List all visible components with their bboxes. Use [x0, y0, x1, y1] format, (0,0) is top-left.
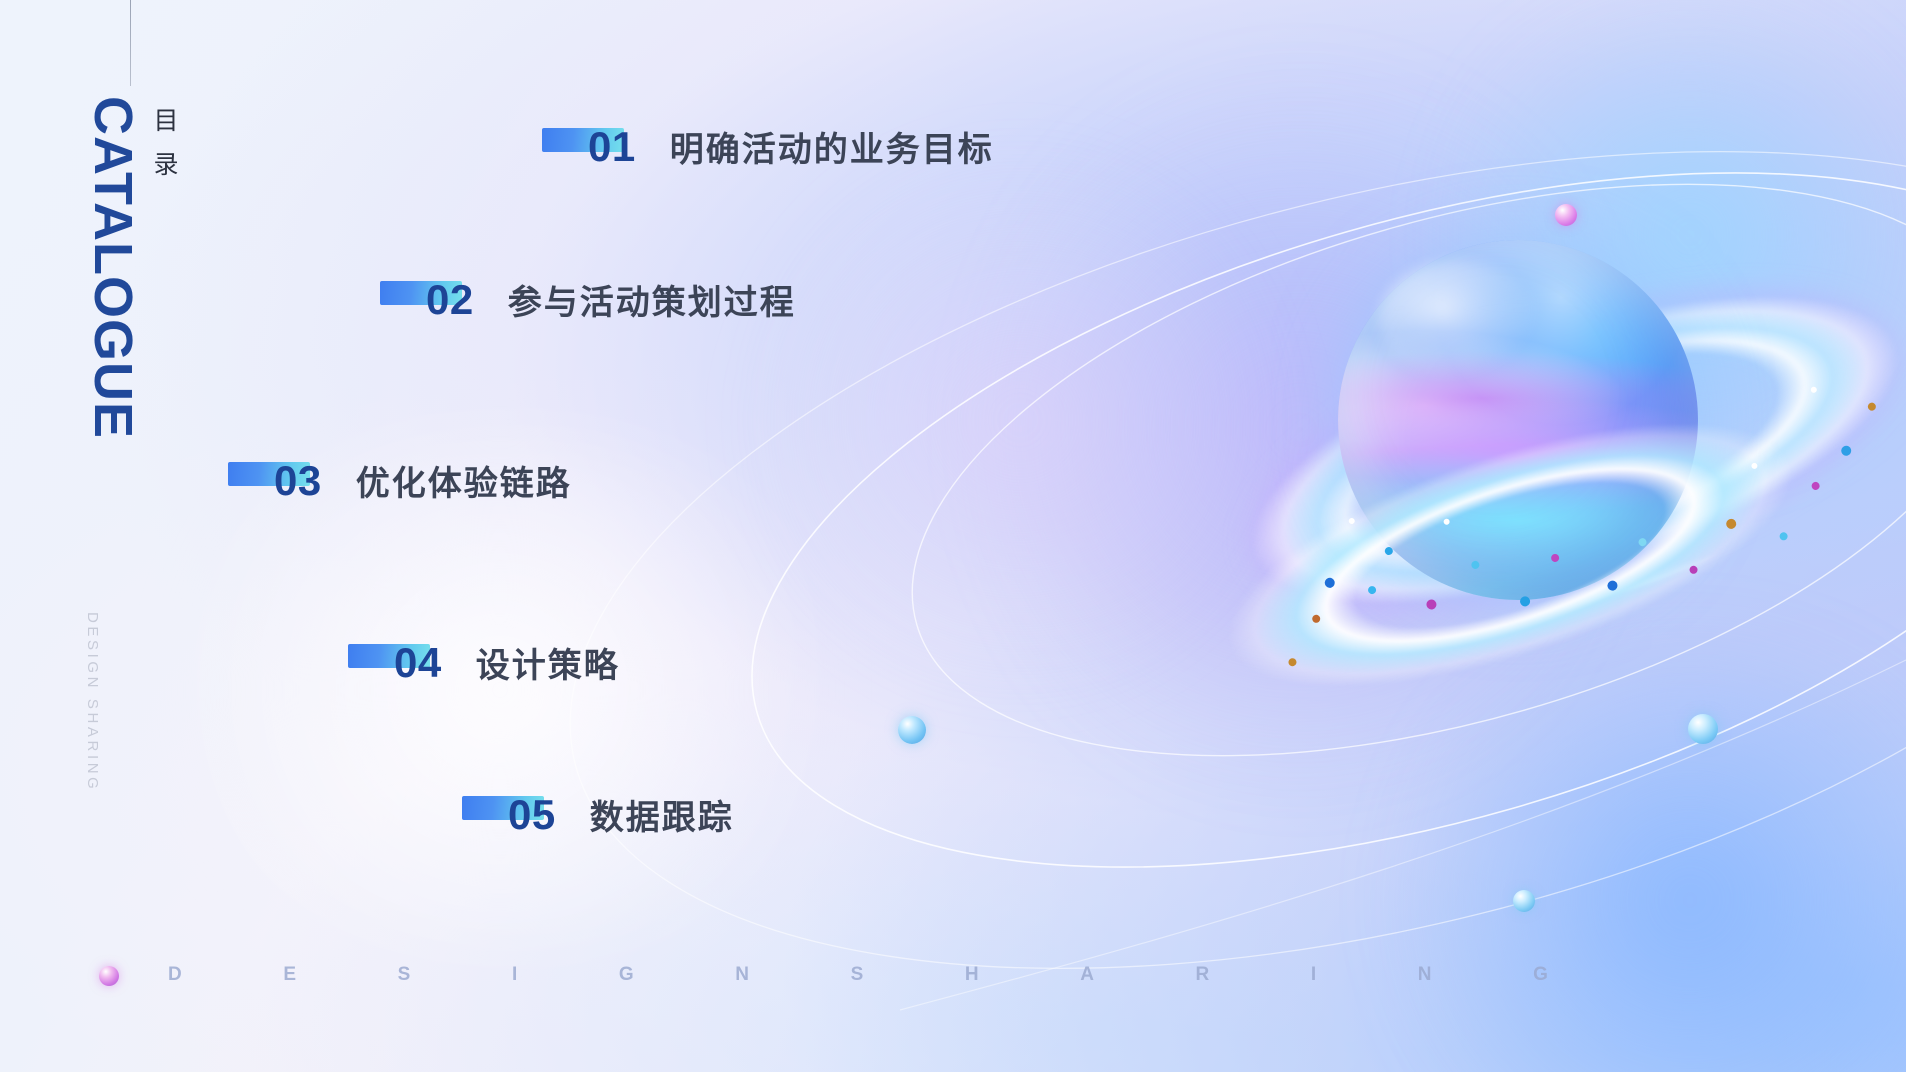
entry-number-wrap-03: 03 [228, 460, 322, 502]
entry-title-05: 数据跟踪 [590, 790, 734, 839]
wordmark-letter: N [735, 964, 749, 986]
background-bloom-cyan [1430, 0, 1906, 470]
planet-ring-outer [1162, 188, 1906, 711]
entry-title-04: 设计策略 [476, 638, 620, 687]
entry-number-05: 05 [508, 791, 556, 838]
slide-catalogue: CATALOGUE 目录 DESIGN SHARING 01 明确活动的业务目标… [0, 0, 1906, 1072]
satellite-orb-pink [1555, 204, 1577, 226]
wordmark-letter: I [1311, 964, 1316, 986]
wordmark-letter: E [283, 964, 296, 986]
ringed-planet-graphic [1190, 150, 1906, 710]
orbit-ring-mid [848, 75, 1906, 864]
wordmark-letter: A [1080, 964, 1094, 986]
planet-ring-front [1183, 359, 1838, 750]
satellite-orb-blue-small [1513, 890, 1535, 912]
entry-title-01: 明确活动的业务目标 [670, 122, 994, 171]
side-label-design-sharing: DESIGN SHARING [84, 612, 101, 792]
catalogue-entry-04[interactable]: 04 设计策略 [348, 638, 620, 687]
orbit-ring-outer [674, 39, 1906, 1002]
entry-number-04: 04 [394, 639, 442, 686]
entry-number-01: 01 [588, 123, 636, 170]
planet-body [1338, 240, 1698, 600]
catalogue-title-en: CATALOGUE [86, 96, 140, 439]
bottom-wordmark: DESIGNSHARING [168, 964, 1548, 986]
catalogue-entry-03[interactable]: 03 优化体验链路 [228, 456, 572, 505]
catalogue-entry-05[interactable]: 05 数据跟踪 [462, 790, 734, 839]
entry-title-03: 优化体验链路 [356, 456, 572, 505]
catalogue-entry-01[interactable]: 01 明确活动的业务目标 [542, 122, 994, 171]
background-bloom-pink [760, 150, 1280, 690]
background-bloom-violet [980, 60, 1620, 800]
wordmark-letter: S [398, 964, 411, 986]
background-bloom-blue [1380, 640, 1906, 1072]
wordmark-letter: N [1418, 964, 1432, 986]
entry-number-wrap-02: 02 [380, 279, 474, 321]
catalogue-entry-02[interactable]: 02 参与活动策划过程 [380, 275, 796, 324]
vertical-rule [130, 0, 131, 86]
entry-number-03: 03 [274, 457, 322, 504]
background-bloom-white [120, 430, 880, 950]
wordmark-letter: I [512, 964, 517, 986]
satellite-orb-blue-right [1688, 714, 1718, 744]
catalogue-title-cn: 目录 [150, 100, 184, 188]
planet-highlight [1378, 260, 1538, 380]
entry-number-wrap-01: 01 [542, 126, 636, 168]
wordmark-letter: D [168, 964, 182, 986]
entry-title-02: 参与活动策划过程 [508, 275, 796, 324]
catalogue-heading: CATALOGUE 目录 [78, 96, 218, 396]
wordmark-letter: R [1196, 964, 1210, 986]
wordmark-letter: S [851, 964, 864, 986]
orbit-streak [900, 660, 1906, 1010]
entry-number-02: 02 [426, 276, 474, 323]
entry-number-wrap-05: 05 [462, 794, 556, 836]
planet-ring-glow [1162, 188, 1906, 711]
wordmark-letter: G [1533, 964, 1548, 986]
planet-ring-specks [1190, 150, 1906, 710]
entry-number-wrap-04: 04 [348, 642, 442, 684]
wordmark-orb [99, 966, 119, 986]
wordmark-letter: G [619, 964, 634, 986]
satellite-orb-blue-left [898, 716, 926, 744]
wordmark-letter: H [965, 964, 979, 986]
